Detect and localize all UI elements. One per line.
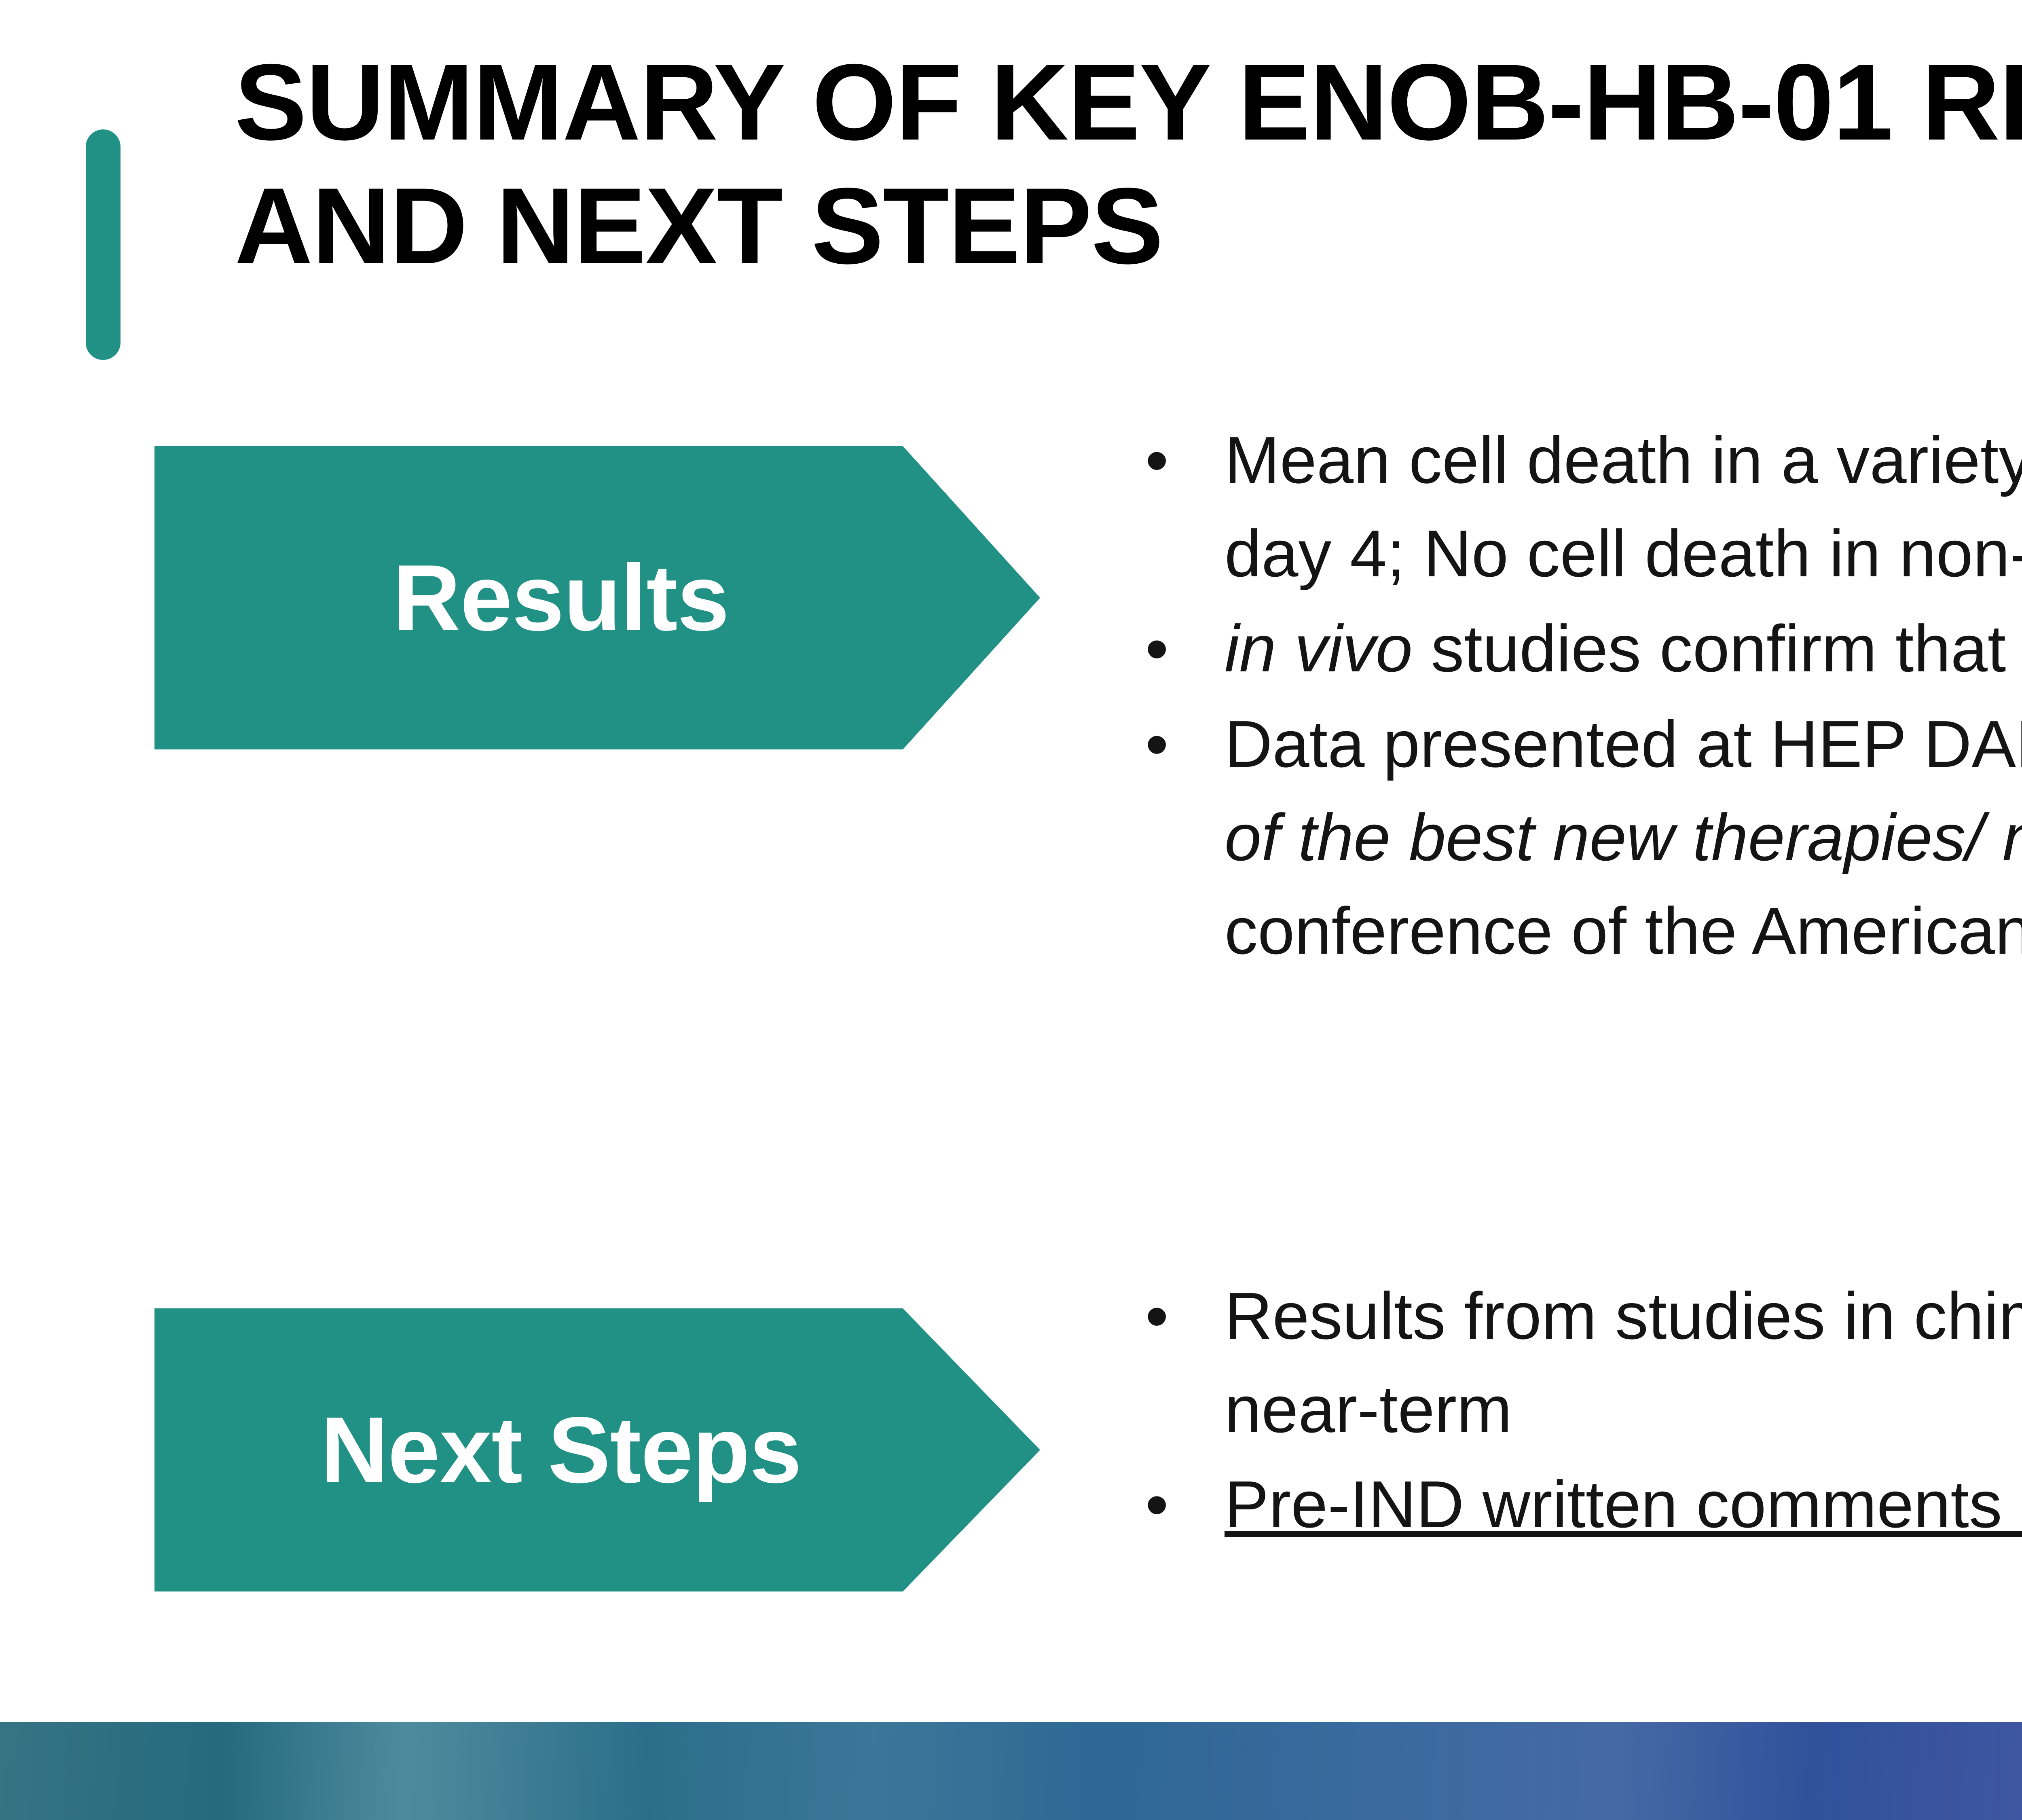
list-item: • Pre-IND written comments received; Pot… — [1128, 1458, 2022, 1551]
section-arrow-results: Results — [154, 446, 1040, 749]
list-item: • Data presented at HEP DART December 20… — [1128, 697, 2022, 978]
footer-decorative-strip: 23 — [0, 1722, 2022, 1820]
bullet-marker-icon: • — [1145, 697, 1168, 791]
list-item: • Results from studies in chimeric mice … — [1128, 1269, 2022, 1456]
list-item-text: Mean cell death in a variety of HBV-prod… — [1225, 423, 2022, 590]
bullet-marker-icon: • — [1145, 1269, 1168, 1363]
list-item-text: in vivo studies confirm that HBV Hijack … — [1225, 612, 2022, 686]
bullet-marker-icon: • — [1145, 413, 1168, 507]
page-title: SUMMARY OF KEY ENOB-HB-01 RESULTS AND NE… — [235, 40, 2022, 288]
list-item-text: Results from studies in chimeric mice (g… — [1225, 1279, 2022, 1446]
list-item-text: Data presented at HEP DART December 2019… — [1225, 707, 2022, 968]
section-arrow-label-next-steps: Next Steps — [320, 1396, 801, 1504]
list-item: • Mean cell death in a variety of HBV-pr… — [1128, 413, 2022, 600]
section-arrow-label-results: Results — [393, 544, 729, 652]
bullet-marker-icon: • — [1145, 1458, 1168, 1551]
title-accent-bar — [86, 129, 121, 360]
bullet-marker-icon: • — [1145, 602, 1168, 695]
list-item: • in vivo studies confirm that HBV Hijac… — [1128, 602, 2022, 695]
bullet-list-results: • Mean cell death in a variety of HBV-pr… — [1128, 413, 2022, 979]
list-item-text: Pre-IND written comments received; Poten… — [1225, 1467, 2022, 1541]
section-arrow-next-steps: Next Steps — [154, 1308, 1040, 1591]
bullet-list-next-steps: • Results from studies in chimeric mice … — [1128, 1269, 2022, 1553]
